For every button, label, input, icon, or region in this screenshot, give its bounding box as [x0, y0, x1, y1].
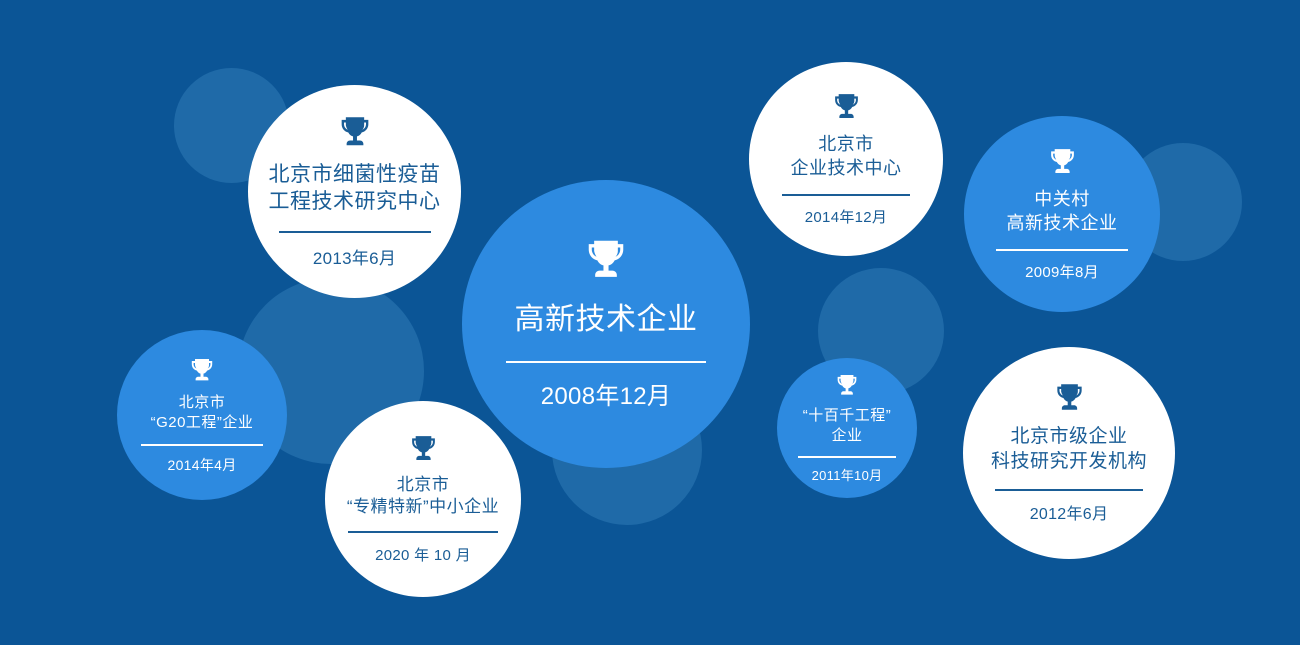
award-date: 2020 年 10 月 [375, 548, 471, 563]
award-date: 2008年12月 [541, 385, 672, 409]
trophy-icon [1055, 383, 1084, 414]
awards-infographic: 高新技术企业 2008年12月 北京市细菌性疫苗 工程技术研究中心 2013年6… [0, 0, 1300, 645]
award-title: 高新技术企业 [515, 301, 698, 339]
award-date: 2013年6月 [313, 250, 396, 267]
award-title: “十百千工程” 企业 [803, 406, 892, 444]
award-title: 北京市细菌性疫苗 工程技术研究中心 [269, 162, 441, 216]
award-bubble-specialized-sme[interactable]: 北京市 “专精特新”中小企业 2020 年 10 月 [325, 401, 521, 597]
award-title: 北京市 企业技术中心 [791, 133, 902, 179]
trophy-icon [585, 239, 627, 283]
award-bubble-beijing-enterprise-tech-center[interactable]: 北京市 企业技术中心 2014年12月 [749, 62, 943, 256]
trophy-icon [339, 116, 371, 150]
award-bubble-beijing-municipal-rd-organization[interactable]: 北京市级企业 科技研究开发机构 2012年6月 [963, 347, 1175, 559]
trophy-icon [1049, 148, 1076, 177]
divider [506, 361, 706, 363]
award-date: 2009年8月 [1025, 265, 1099, 280]
award-title: 北京市级企业 科技研究开发机构 [991, 425, 1147, 474]
trophy-icon [833, 93, 860, 122]
award-title: 北京市 “专精特新”中小企业 [347, 474, 499, 518]
award-date: 2012年6月 [1030, 507, 1109, 523]
award-bubble-beijing-g20-project-enterprise[interactable]: 北京市 “G20工程”企业 2014年4月 [117, 330, 287, 500]
divider [782, 194, 910, 196]
trophy-icon [836, 374, 858, 398]
divider [279, 231, 431, 233]
trophy-icon [410, 435, 437, 464]
award-bubble-beijing-bacterial-vaccine-center[interactable]: 北京市细菌性疫苗 工程技术研究中心 2013年6月 [248, 85, 461, 298]
award-date: 2014年12月 [805, 210, 887, 225]
award-bubble-ten-hundred-thousand-project[interactable]: “十百千工程” 企业 2011年10月 [777, 358, 917, 498]
trophy-icon [190, 358, 214, 384]
award-bubble-zhongguancun-high-tech[interactable]: 中关村 高新技术企业 2009年8月 [964, 116, 1160, 312]
award-date: 2011年10月 [812, 469, 883, 482]
divider [348, 531, 498, 533]
divider [996, 249, 1128, 251]
award-bubble-high-tech-enterprise[interactable]: 高新技术企业 2008年12月 [462, 180, 750, 468]
divider [995, 489, 1143, 491]
divider [141, 444, 263, 446]
divider [798, 456, 896, 458]
award-date: 2014年4月 [167, 458, 236, 472]
award-title: 北京市 “G20工程”企业 [151, 393, 254, 431]
award-title: 中关村 高新技术企业 [1007, 188, 1118, 234]
